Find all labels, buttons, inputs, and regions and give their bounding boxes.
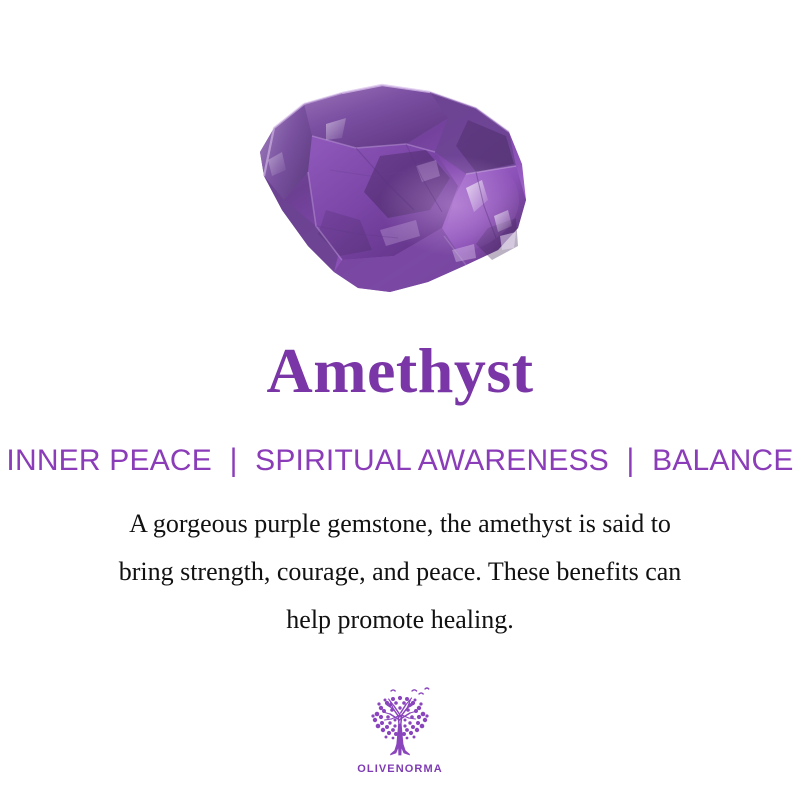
keyword-spiritual-awareness: SPIRITUAL AWARENESS xyxy=(255,444,609,477)
tree-of-life-icon xyxy=(357,686,443,762)
keyword-inner-peace: INNER PEACE xyxy=(6,444,212,477)
product-keywords: INNER PEACE | SPIRITUAL AWARENESS | BALA… xyxy=(0,443,800,479)
keyword-separator-1: | xyxy=(221,442,247,480)
product-description: A gorgeous purple gemstone, the amethyst… xyxy=(50,500,750,644)
brand-logo: OLIVENORMA xyxy=(0,686,800,775)
description-line-3: help promote healing. xyxy=(50,596,750,644)
product-title: Amethyst xyxy=(0,335,800,407)
description-line-2: bring strength, courage, and peace. Thes… xyxy=(50,548,750,596)
keyword-separator-2: | xyxy=(618,442,644,480)
amethyst-stone-graphic xyxy=(230,60,570,310)
brand-name: OLIVENORMA xyxy=(0,763,800,775)
amethyst-stone-image xyxy=(0,60,800,310)
description-line-1: A gorgeous purple gemstone, the amethyst… xyxy=(50,500,750,548)
product-infographic-card: Amethyst INNER PEACE | SPIRITUAL AWARENE… xyxy=(0,0,800,800)
keyword-balance: BALANCE xyxy=(652,444,793,477)
